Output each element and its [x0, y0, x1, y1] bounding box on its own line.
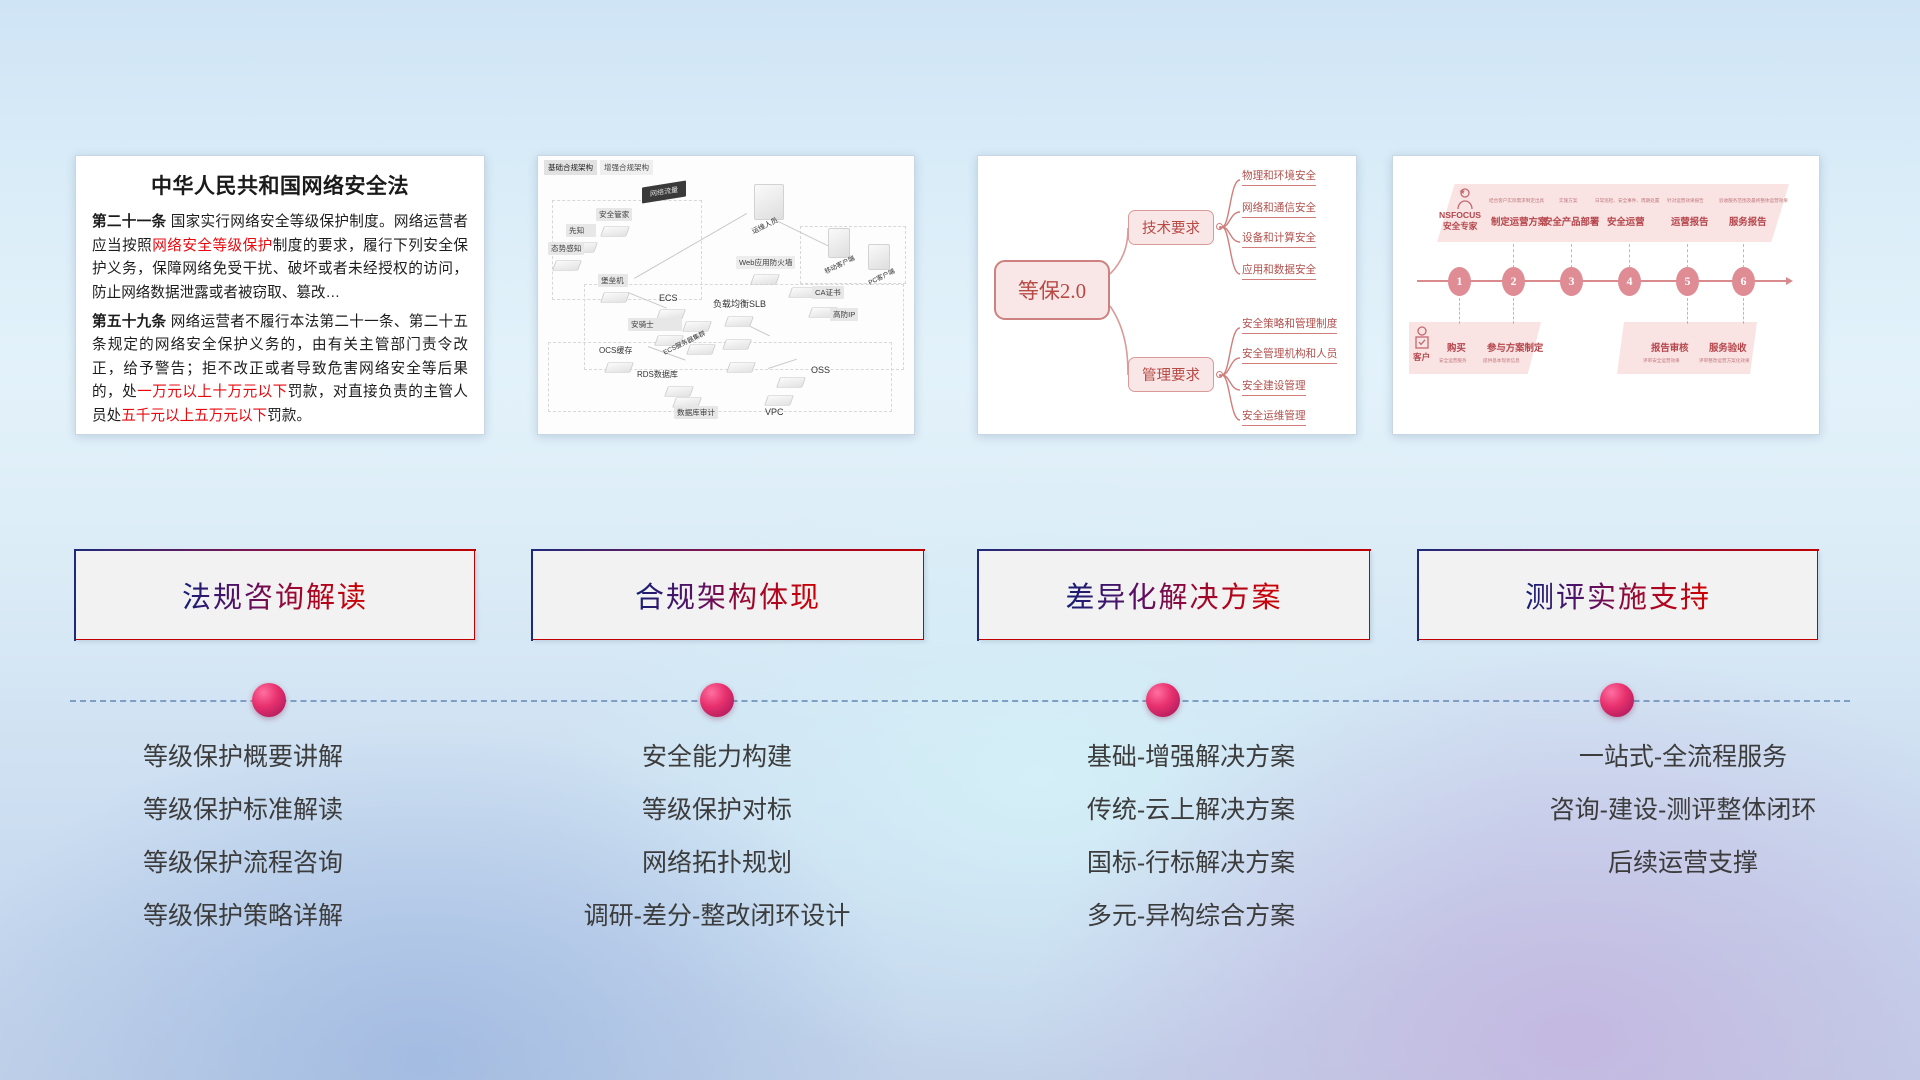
timeline-dot-4[interactable] — [1600, 683, 1634, 717]
list-item: 基础-增强解决方案 — [954, 745, 1428, 770]
timeline-dot-1[interactable] — [252, 683, 286, 717]
detail-column-assessment: 一站式-全流程服务 咨询-建设-测评整体闭环 后续运营支撑 — [1446, 745, 1920, 1025]
detail-column-regulation: 等级保护概要讲解 等级保护标准解读 等级保护流程咨询 等级保护策略详解 — [6, 745, 480, 1025]
list-item: 等级保护概要讲解 — [6, 745, 480, 770]
timeline-dashed-line — [70, 700, 1850, 702]
timeline-dot-3[interactable] — [1146, 683, 1180, 717]
list-item: 一站式-全流程服务 — [1446, 745, 1920, 770]
timeline-dot-2[interactable] — [700, 683, 734, 717]
list-item: 安全能力构建 — [480, 745, 954, 770]
detail-column-architecture: 安全能力构建 等级保护对标 网络拓扑规划 调研-差分-整改闭环设计 — [480, 745, 954, 1025]
list-item: 等级保护流程咨询 — [6, 851, 480, 876]
list-item: 后续运营支撑 — [1446, 851, 1920, 876]
list-item: 等级保护对标 — [480, 798, 954, 823]
list-item: 等级保护策略详解 — [6, 904, 480, 929]
list-item: 调研-差分-整改闭环设计 — [480, 904, 954, 929]
detail-columns: 等级保护概要讲解 等级保护标准解读 等级保护流程咨询 等级保护策略详解 安全能力… — [0, 745, 1920, 1025]
list-item: 网络拓扑规划 — [480, 851, 954, 876]
list-item: 多元-异构综合方案 — [954, 904, 1428, 929]
list-item: 等级保护标准解读 — [6, 798, 480, 823]
list-item: 传统-云上解决方案 — [954, 798, 1428, 823]
list-item: 咨询-建设-测评整体闭环 — [1446, 798, 1920, 823]
list-item: 国标-行标解决方案 — [954, 851, 1428, 876]
detail-column-solution: 基础-增强解决方案 传统-云上解决方案 国标-行标解决方案 多元-异构综合方案 — [954, 745, 1428, 1025]
